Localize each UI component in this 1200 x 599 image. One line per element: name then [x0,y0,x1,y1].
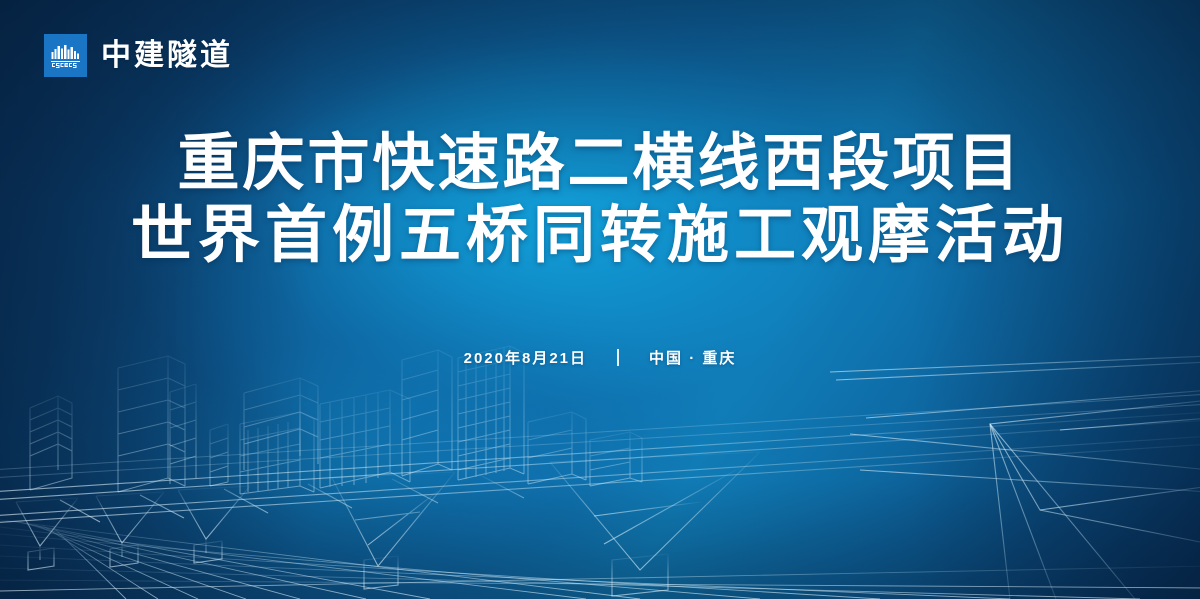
event-meta: 2020年8月21日 中国 · 重庆 [0,347,1200,368]
title-line-1: 重庆市快速路二横线西段项目 [0,128,1200,200]
event-banner: 中建隧道 重庆市快速路二横线西段项目 世界首例五桥同转施工观摩活动 2020年8… [0,0,1200,599]
event-location: 中国 · 重庆 [649,347,736,368]
brand-wordmark: 中建隧道 [101,41,233,71]
meta-divider [617,349,619,366]
cscec-monogram-icon [44,34,87,77]
event-date: 2020年8月21日 [464,347,587,368]
brand-logo: 中建隧道 [44,34,233,77]
title-line-2: 世界首例五桥同转施工观摩活动 [0,200,1200,272]
background-vignette [0,0,1200,599]
page-title: 重庆市快速路二横线西段项目 世界首例五桥同转施工观摩活动 [0,128,1200,272]
